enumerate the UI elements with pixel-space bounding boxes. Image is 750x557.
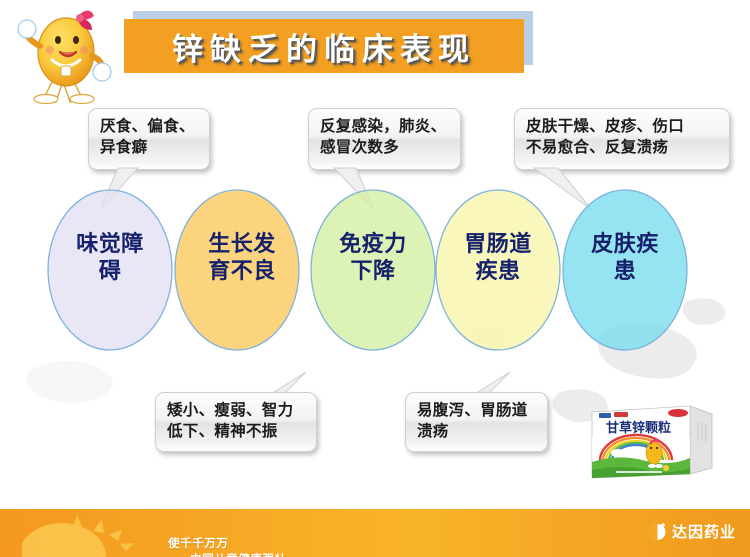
circle-label-growth-delay: 生长发 育不良 (185, 232, 299, 286)
callout-taste: 厌食、偏食、 异食癖 (88, 108, 210, 170)
company-name: 达因药业 (672, 521, 736, 542)
circle-label-low-immunity: 免疫力 下降 (318, 232, 428, 286)
footer-banner: 使千千万万 中国儿童健康强壮 达因药业 (0, 509, 750, 557)
company-logo[interactable]: 达因药业 (648, 521, 736, 542)
product-box-image: 甘草锌颗粒 (586, 396, 718, 484)
callout-immunity: 反复感染，肺炎、 感冒次数多 (308, 108, 461, 170)
footer-slogan-line2: 中国儿童健康强壮 (168, 551, 287, 557)
page-title: 锌缺乏的临床表现 (172, 24, 476, 69)
footer-slogan: 使千千万万 中国儿童健康强壮 (168, 518, 287, 557)
footer-slogan-line1: 使千千万万 (168, 536, 229, 550)
circle-label-skin-disease: 皮肤疾 患 (570, 232, 680, 286)
title-banner: 锌缺乏的临床表现 (124, 19, 524, 73)
circle-label-gi-disease: 胃肠道 疾患 (443, 232, 553, 286)
dyne-mark-icon (648, 522, 667, 541)
mascot-icon (14, 4, 118, 108)
circle-label-taste-disorder: 味觉障 碍 (55, 232, 165, 286)
callout-growth: 矮小、瘦弱、智力 低下、精神不振 (155, 392, 317, 452)
slide-canvas: 锌缺乏的临床表现 厌食、偏食、 异食癖 反复感染，肺炎、 感冒次数多 皮肤干燥、… (0, 0, 750, 557)
callout-gi: 易腹泻、胃肠道 溃疡 (405, 392, 548, 452)
callout-skin: 皮肤干燥、皮疹、伤口 不易愈合、反复溃疡 (514, 108, 730, 170)
svg-text:甘草锌颗粒: 甘草锌颗粒 (606, 420, 671, 436)
